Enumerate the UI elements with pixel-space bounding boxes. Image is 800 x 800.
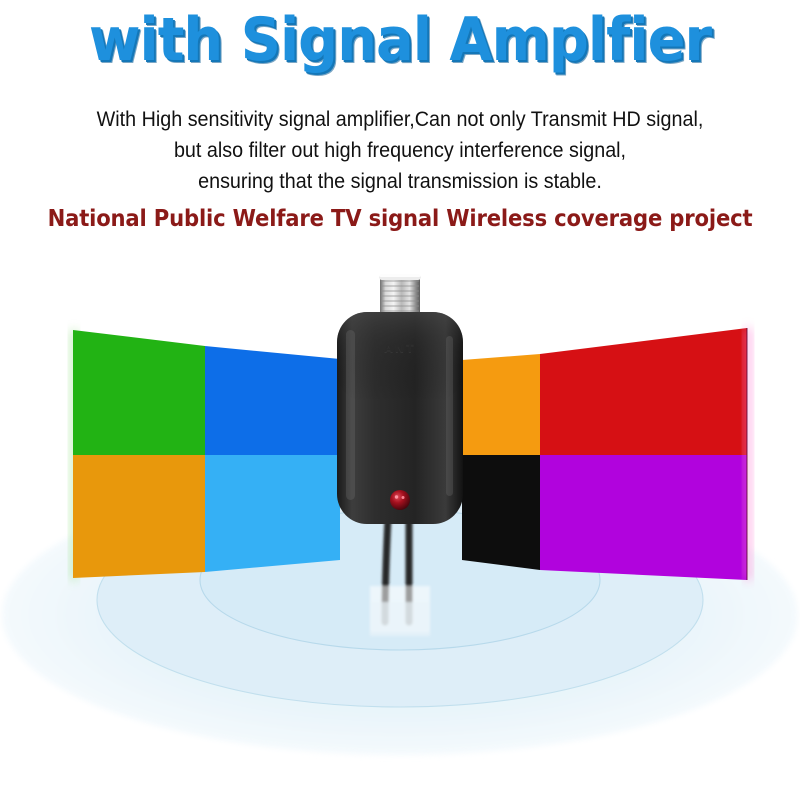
description-line: With High sensitivity signal amplifier,C… <box>24 104 776 135</box>
product-banner: with Signal Amplfier With High sensitivi… <box>0 0 800 800</box>
product-illustration: ANT <box>0 250 800 800</box>
subheading: National Public Welfare TV signal Wirele… <box>32 206 768 232</box>
led-indicator <box>390 490 410 510</box>
panel-black <box>462 455 540 570</box>
device-specular-right <box>446 336 453 496</box>
description-line: but also filter out high frequency inter… <box>24 135 776 166</box>
panel-light-blue <box>205 455 340 572</box>
panel-orange <box>73 455 205 578</box>
panel-purple <box>540 455 747 580</box>
panel-green <box>73 330 205 455</box>
panel-edge-glow-right <box>744 328 752 580</box>
page-title: with Signal Amplfier <box>28 6 772 74</box>
signal-amplifier-device <box>337 274 463 524</box>
description-line: ensuring that the signal transmission is… <box>24 166 776 197</box>
device-body-highlight <box>337 312 463 402</box>
panel-red <box>540 328 747 455</box>
device-specular-left <box>346 330 355 500</box>
panel-orange-2 <box>462 354 540 455</box>
description-text: With High sensitivity signal amplifier,C… <box>24 104 776 197</box>
panel-blue <box>205 346 340 455</box>
